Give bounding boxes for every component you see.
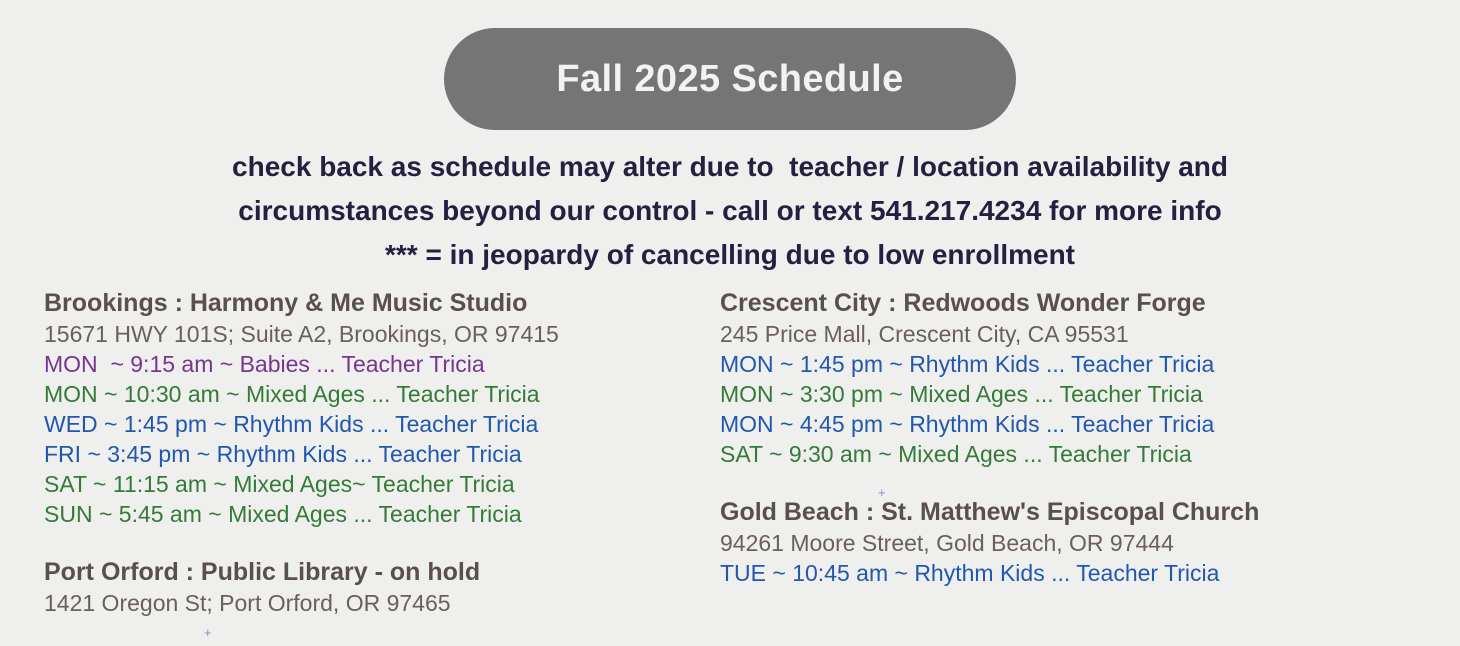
class-line: MON ~ 1:45 pm ~ Rhythm Kids ... Teacher … (720, 349, 1400, 379)
notice-line-1: check back as schedule may alter due to … (0, 145, 1460, 189)
venue-name: Port Orford : Public Library - on hold (44, 557, 684, 588)
plus-marker-icon: + (878, 486, 886, 499)
page-title: Fall 2025 Schedule (556, 58, 903, 101)
venue-block-brookings: Brookings : Harmony & Me Music Studio 15… (44, 288, 684, 529)
venue-columns: Brookings : Harmony & Me Music Studio 15… (0, 288, 1460, 646)
notice-line-3: *** = in jeopardy of cancelling due to l… (0, 233, 1460, 277)
venue-address: 1421 Oregon St; Port Orford, OR 97465 (44, 588, 684, 618)
class-line: FRI ~ 3:45 pm ~ Rhythm Kids ... Teacher … (44, 439, 684, 469)
class-line: TUE ~ 10:45 am ~ Rhythm Kids ... Teacher… (720, 558, 1400, 588)
class-line: WED ~ 1:45 pm ~ Rhythm Kids ... Teacher … (44, 409, 684, 439)
class-line: MON ~ 10:30 am ~ Mixed Ages ... Teacher … (44, 379, 684, 409)
schedule-notice: check back as schedule may alter due to … (0, 145, 1460, 277)
venue-block-crescent-city: Crescent City : Redwoods Wonder Forge 24… (720, 288, 1400, 469)
plus-marker-icon: + (204, 626, 212, 639)
venue-name: Gold Beach : St. Matthew's Episcopal Chu… (720, 497, 1400, 528)
venue-address: 15671 HWY 101S; Suite A2, Brookings, OR … (44, 319, 684, 349)
venue-address: 94261 Moore Street, Gold Beach, OR 97444 (720, 528, 1400, 558)
venue-address: 245 Price Mall, Crescent City, CA 95531 (720, 319, 1400, 349)
title-pill: Fall 2025 Schedule (444, 28, 1016, 130)
venue-name: Brookings : Harmony & Me Music Studio (44, 288, 684, 319)
class-line: MON ~ 4:45 pm ~ Rhythm Kids ... Teacher … (720, 409, 1400, 439)
class-line: MON ~ 9:15 am ~ Babies ... Teacher Trici… (44, 349, 684, 379)
header-banner: Fall 2025 Schedule (0, 28, 1460, 130)
venue-column-right: Crescent City : Redwoods Wonder Forge 24… (720, 288, 1400, 588)
class-line: SAT ~ 9:30 am ~ Mixed Ages ... Teacher T… (720, 439, 1400, 469)
class-line: SAT ~ 11:15 am ~ Mixed Ages~ Teacher Tri… (44, 469, 684, 499)
notice-line-2: circumstances beyond our control - call … (0, 189, 1460, 233)
venue-column-left: Brookings : Harmony & Me Music Studio 15… (44, 288, 684, 618)
class-line: SUN ~ 5:45 am ~ Mixed Ages ... Teacher T… (44, 499, 684, 529)
class-line: MON ~ 3:30 pm ~ Mixed Ages ... Teacher T… (720, 379, 1400, 409)
venue-name: Crescent City : Redwoods Wonder Forge (720, 288, 1400, 319)
venue-block-gold-beach: Gold Beach : St. Matthew's Episcopal Chu… (720, 497, 1400, 588)
venue-block-port-orford: Port Orford : Public Library - on hold 1… (44, 557, 684, 618)
